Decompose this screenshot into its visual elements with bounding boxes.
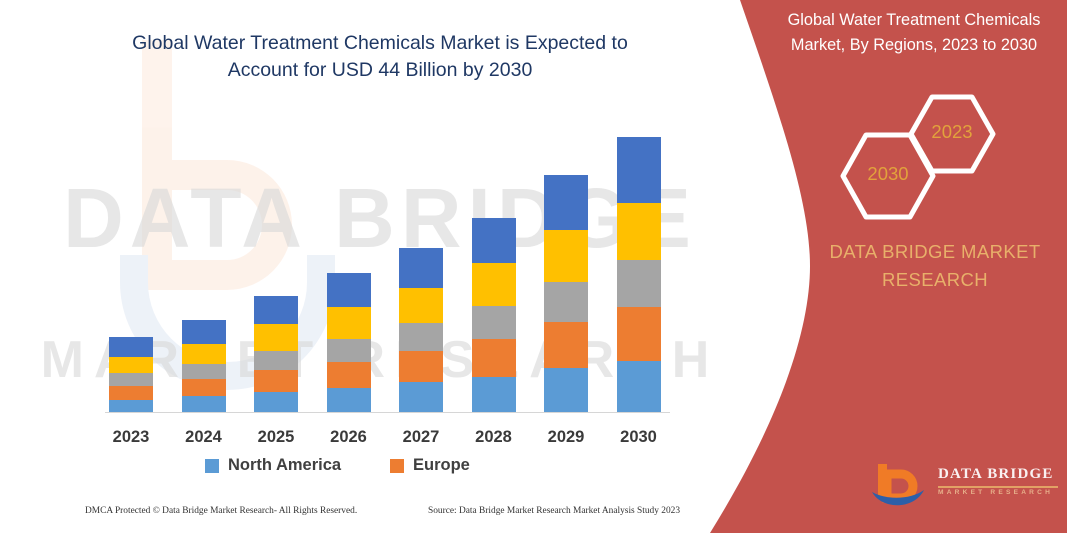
x-axis-label-2026: 2026	[313, 428, 385, 447]
bar-chart	[95, 110, 675, 413]
bar-segment-series-3	[472, 306, 516, 339]
bar-segment-north-america	[109, 400, 153, 412]
bar-group-2029	[544, 175, 588, 412]
bar-segment-north-america	[617, 361, 661, 412]
page-title: Global Water Treatment Chemicals Market …	[95, 30, 665, 84]
x-axis-labels: 20232024202520262027202820292030	[95, 428, 675, 454]
right-panel: Global Water Treatment Chemicals Market,…	[690, 0, 1067, 533]
bar-segment-series-5	[182, 320, 226, 344]
hexagon-2023-label: 2023	[906, 121, 998, 143]
bar-segment-series-4	[472, 263, 516, 306]
bar-segment-series-3	[617, 260, 661, 307]
x-axis-label-2029: 2029	[530, 428, 602, 447]
bar-segment-series-4	[544, 230, 588, 282]
right-panel-content: Global Water Treatment Chemicals Market,…	[690, 0, 1067, 533]
brand-name: DATA BRIDGE MARKET RESEARCH	[820, 238, 1050, 294]
hexagon-2023: 2023	[906, 92, 998, 176]
bar-group-2030	[617, 137, 661, 412]
bar-segment-series-5	[254, 296, 298, 325]
x-axis-label-2028: 2028	[458, 428, 530, 447]
bar-segment-series-3	[544, 282, 588, 321]
bar-segment-north-america	[544, 368, 588, 412]
bar-segment-europe	[544, 322, 588, 368]
x-axis-label-2023: 2023	[95, 428, 167, 447]
legend-swatch-icon	[205, 459, 219, 473]
bar-segment-europe	[254, 370, 298, 392]
bar-segment-series-4	[182, 344, 226, 364]
bar-segment-series-3	[182, 364, 226, 380]
footer: DMCA Protected © Data Bridge Market Rese…	[0, 506, 760, 528]
x-axis-label-2027: 2027	[385, 428, 457, 447]
footer-copyright: DMCA Protected © Data Bridge Market Rese…	[85, 506, 357, 516]
bar-segment-europe	[472, 339, 516, 377]
bar-segment-series-4	[327, 307, 371, 338]
chart-legend: North AmericaEurope	[95, 456, 675, 482]
bar-segment-europe	[109, 386, 153, 400]
bar-segment-series-4	[109, 357, 153, 373]
company-logo: DATA BRIDGE MARKET RESEARCH	[870, 460, 1065, 516]
bar-segment-series-5	[472, 218, 516, 262]
bar-group-2028	[472, 218, 516, 412]
bar-segment-series-4	[254, 324, 298, 350]
legend-item-europe[interactable]: Europe	[390, 456, 470, 475]
legend-item-north-america[interactable]: North America	[205, 456, 341, 475]
legend-swatch-icon	[390, 459, 404, 473]
legend-label: Europe	[413, 456, 470, 475]
bar-segment-north-america	[182, 396, 226, 412]
left-panel: DATA BRIDGE MARKET RESEARCH Global Water…	[0, 0, 760, 533]
bar-series-container	[95, 110, 675, 413]
bar-group-2027	[399, 248, 443, 412]
bar-segment-series-5	[617, 137, 661, 202]
bar-group-2025	[254, 296, 298, 412]
bar-group-2024	[182, 320, 226, 412]
x-axis-label-2024: 2024	[168, 428, 240, 447]
bar-segment-series-3	[327, 339, 371, 363]
bar-segment-europe	[399, 351, 443, 382]
infographic-root: DATA BRIDGE MARKET RESEARCH Global Water…	[0, 0, 1067, 533]
right-panel-title: Global Water Treatment Chemicals Market,…	[768, 8, 1060, 58]
bar-group-2026	[327, 273, 371, 412]
bar-segment-series-5	[327, 273, 371, 307]
bar-segment-north-america	[254, 392, 298, 412]
logo-title: DATA BRIDGE	[938, 466, 1054, 483]
logo-subtitle: MARKET RESEARCH	[938, 489, 1053, 496]
data-bridge-logo-icon	[870, 462, 932, 512]
x-axis-label-2030: 2030	[603, 428, 675, 447]
bar-segment-series-3	[109, 373, 153, 386]
bar-segment-europe	[182, 379, 226, 396]
bar-segment-europe	[327, 362, 371, 388]
bar-segment-europe	[617, 307, 661, 361]
bar-segment-north-america	[472, 377, 516, 412]
footer-source: Source: Data Bridge Market Research Mark…	[428, 506, 680, 516]
x-axis-label-2025: 2025	[240, 428, 312, 447]
bar-segment-series-4	[399, 288, 443, 323]
bar-segment-north-america	[327, 388, 371, 412]
legend-label: North America	[228, 456, 341, 475]
bar-segment-series-5	[544, 175, 588, 230]
logo-divider	[938, 486, 1058, 488]
hexagon-badges: 2030 2023	[810, 92, 1060, 212]
bar-segment-series-3	[399, 323, 443, 350]
bar-segment-series-5	[399, 248, 443, 287]
bar-segment-series-3	[254, 351, 298, 371]
bar-segment-north-america	[399, 382, 443, 412]
bar-group-2023	[109, 337, 153, 412]
bar-segment-series-5	[109, 337, 153, 357]
bar-segment-series-4	[617, 203, 661, 261]
